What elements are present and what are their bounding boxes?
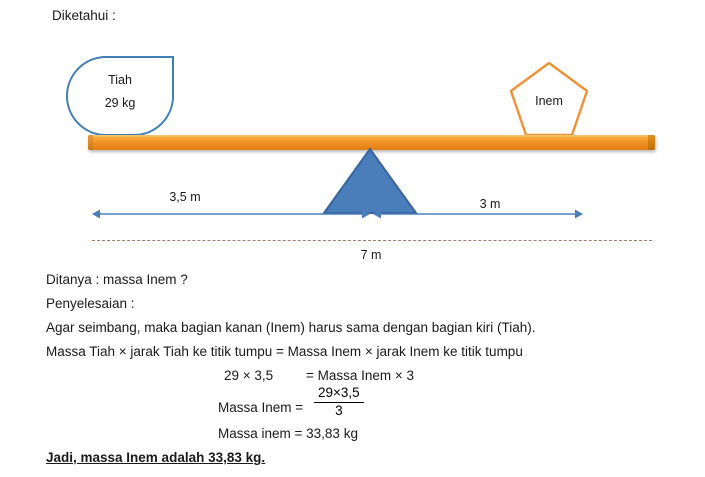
tiah-mass-label: 29 kg [66, 96, 174, 110]
left-distance-label: 3,5 m [135, 190, 235, 204]
balance-statement: Agar seimbang, maka bagian kanan (Inem) … [46, 320, 536, 336]
beam-right-cap [648, 135, 655, 150]
total-length-label: 7 m [326, 248, 416, 262]
formula-line: Massa Tiah × jarak Tiah ke titik tumpu =… [46, 344, 523, 360]
question-line: Ditanya : massa Inem ? [46, 272, 188, 288]
tiah-name-label: Tiah [66, 73, 174, 87]
conclusion-line: Jadi, massa Inem adalah 33,83 kg. [46, 450, 265, 466]
dimension-arrows [0, 196, 705, 232]
step1-right: = Massa Inem × 3 [306, 368, 414, 384]
mass-fraction: 29×3,5 3 [314, 386, 364, 419]
fraction-denominator: 3 [314, 403, 364, 419]
fraction-numerator: 29×3,5 [314, 386, 364, 402]
beam-left-cap [88, 135, 93, 150]
step1-left: 29 × 3,5 [224, 368, 273, 384]
lever-diagram: Tiah 29 kg Inem [0, 0, 705, 270]
worksheet-page: Diketahui : Tiah 29 kg Inem [0, 0, 705, 477]
solution-heading: Penyelesaian : [46, 296, 135, 312]
inem-name-label: Inem [508, 94, 590, 108]
total-length-baseline [92, 240, 652, 241]
step3-result: Massa inem = 33,83 kg [218, 426, 358, 442]
right-distance-label: 3 m [440, 197, 540, 211]
step2-label: Massa Inem = [218, 400, 303, 416]
